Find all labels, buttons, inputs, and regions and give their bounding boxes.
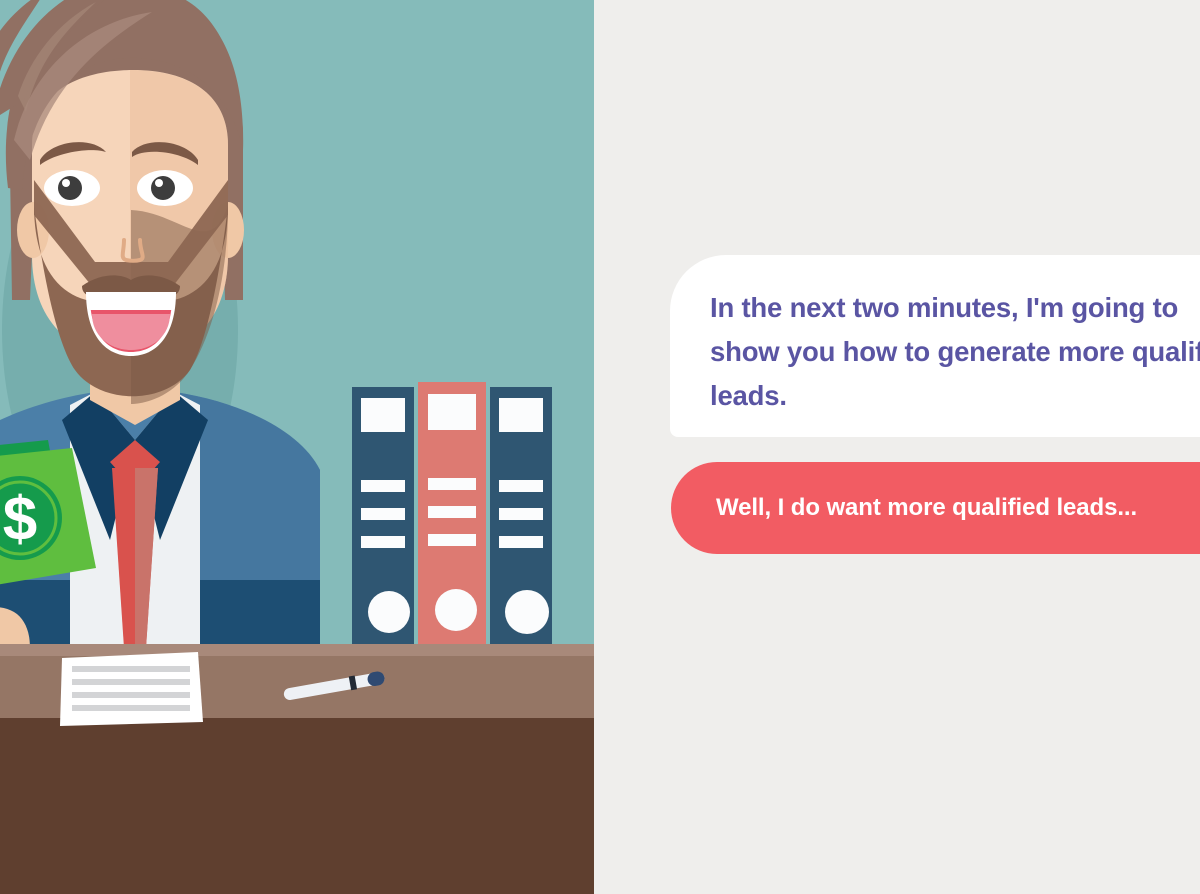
chat-column: In the next two minutes, I'm going to sh…	[594, 0, 1200, 894]
chat-bubble-customer: Well, I do want more qualified leads...	[671, 462, 1200, 554]
desk-edge	[0, 644, 594, 658]
desk-paper	[60, 652, 203, 726]
desk-front	[0, 718, 594, 894]
video-frame: $	[0, 0, 1200, 894]
ring-binders	[352, 382, 552, 644]
chat-bubble-narrator: In the next two minutes, I'm going to sh…	[670, 255, 1200, 437]
money-dollar-symbol: $	[3, 485, 37, 554]
chat-bubble-narrator-text: In the next two minutes, I'm going to sh…	[710, 286, 1200, 418]
chat-bubble-customer-text: Well, I do want more qualified leads...	[716, 494, 1137, 522]
desk	[0, 644, 594, 894]
illustration-panel: $	[0, 0, 594, 894]
